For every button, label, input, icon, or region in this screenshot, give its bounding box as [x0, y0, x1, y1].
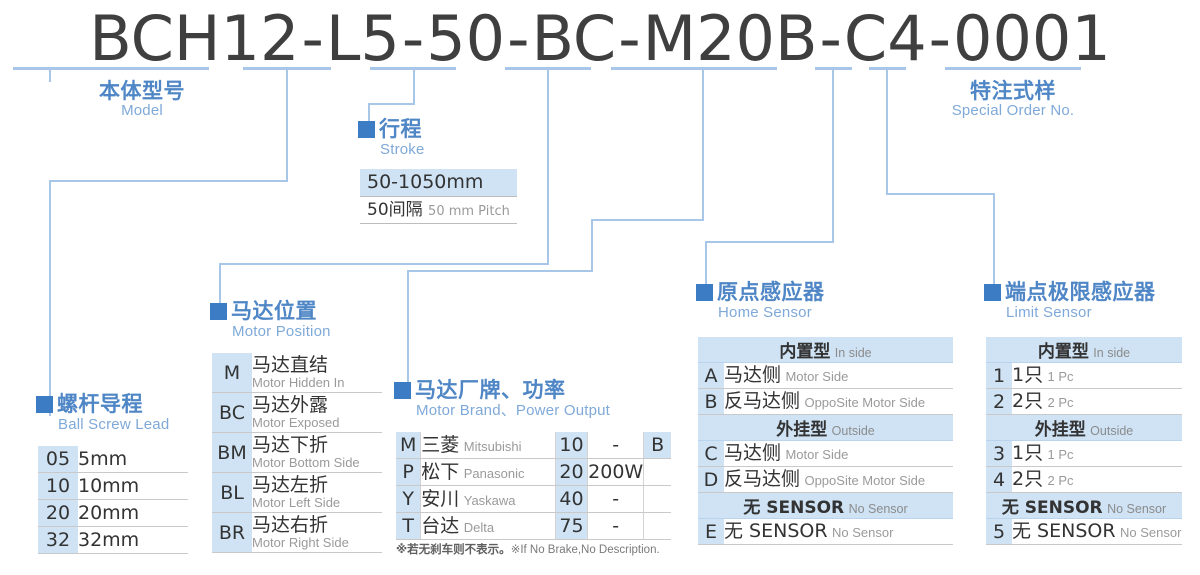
leader-motor-brand-horizontal-b	[407, 270, 593, 272]
home-sensor-code: C	[698, 441, 724, 467]
motor-brand-note-en: ※If No Brake,No Description.	[511, 544, 660, 556]
block-ball-screw-cn: 螺杆导程	[57, 392, 143, 416]
leader-motor-brand-vertical-b	[591, 219, 593, 271]
block-special-order: 特注式样 Special Order No.	[930, 80, 1096, 120]
table-row: 3232mm	[38, 527, 188, 554]
table-row: D反马达侧 OppoSite Motor Side	[698, 467, 953, 493]
motor-brand-note-cn: ※若无刹车则不表示。	[396, 544, 511, 556]
stroke-pitch-en: 50 mm Pitch	[428, 204, 510, 219]
code-segment-home-sensor: C	[844, 2, 887, 75]
motor-position-table: M马达直结Motor Hidden InBC马达外露Motor ExposedB…	[212, 353, 382, 553]
block-model: 本体型号 Model	[57, 80, 227, 120]
code-dash-2: -	[400, 2, 426, 75]
leader-lead-vertical	[286, 70, 288, 180]
table-row: E无 SENSOR No Sensor	[698, 519, 953, 545]
table-row: BM马达下折Motor Bottom Side	[212, 433, 382, 473]
leader-limit-sensor-horizontal	[886, 193, 994, 195]
motor-brand-power-value: -	[588, 486, 644, 513]
table-row: 055mm	[38, 446, 188, 473]
leader-motor-position-vertical-a	[547, 70, 549, 264]
leader-home-sensor-vertical-a	[832, 70, 834, 242]
leader-lead-horizontal	[49, 180, 288, 182]
stroke-pitch-cn: 50间隔	[367, 200, 423, 220]
leader-stroke-horizontal	[368, 103, 415, 105]
leader-home-sensor-horizontal	[705, 241, 834, 243]
home-sensor-value: 马达侧 Motor Side	[724, 363, 953, 389]
limit-sensor-group-label: 无 SENSOR No Sensor	[986, 493, 1182, 519]
table-row: BR马达右折Motor Right Side	[212, 513, 382, 553]
code-segment-motor-brand: M20B	[643, 2, 818, 75]
motor-brand-code: T	[396, 513, 421, 540]
square-bullet-icon	[696, 284, 713, 301]
motor-brand-power-code: 10	[555, 432, 587, 459]
motor-brand-table: M三菱 Mitsubishi10-BP松下 Panasonic20200WY安川…	[396, 432, 671, 540]
leader-limit-sensor-vertical-a	[886, 70, 888, 194]
leader-motor-brand-vertical-a	[702, 70, 704, 220]
code-dash-4: -	[616, 2, 642, 75]
code-segment-limit-sensor: 4	[887, 2, 926, 75]
code-segment-motor-position: BC	[531, 2, 616, 75]
motor-brand-code: Y	[396, 486, 421, 513]
home-sensor-table: 内置型 In sideA马达侧 Motor SideB反马达侧 OppoSite…	[698, 337, 953, 545]
table-row: M马达直结Motor Hidden In	[212, 353, 382, 393]
square-bullet-icon	[394, 382, 411, 399]
limit-sensor-code: 3	[986, 441, 1012, 467]
square-bullet-icon	[210, 303, 227, 320]
leader-motor-position-horizontal	[219, 263, 549, 265]
lead-value: 5mm	[78, 446, 188, 473]
table-row: M三菱 Mitsubishi10-B	[396, 432, 671, 459]
home-sensor-value: 反马达侧 OppoSite Motor Side	[724, 467, 953, 493]
motor-position-code: BR	[212, 513, 252, 553]
motor-position-value: 马达右折Motor Right Side	[252, 513, 382, 553]
block-special-order-cn: 特注式样	[930, 80, 1096, 102]
block-special-order-en: Special Order No.	[930, 102, 1096, 120]
limit-sensor-group-label: 内置型 In side	[986, 337, 1182, 363]
table-row: C马达侧 Motor Side	[698, 441, 953, 467]
home-sensor-code: B	[698, 389, 724, 415]
block-home-sensor-cn: 原点感应器	[717, 280, 825, 304]
table-group-row: 外挂型 Outside	[698, 415, 953, 441]
home-sensor-code: A	[698, 363, 724, 389]
lead-value: 20mm	[78, 500, 188, 527]
code-segment-model: BCH12	[89, 2, 299, 75]
lead-code: 05	[38, 446, 78, 473]
lead-value: 10mm	[78, 473, 188, 500]
motor-position-code: BL	[212, 473, 252, 513]
motor-brand-brake-code	[644, 486, 671, 513]
motor-brand-power-value: -	[588, 432, 644, 459]
block-motor-brand-cn: 马达厂牌、功率	[415, 378, 566, 402]
block-ball-screw-en: Ball Screw Lead	[36, 416, 169, 434]
code-dash-6: -	[927, 2, 953, 75]
leader-motor-brand-horizontal-a	[591, 219, 704, 221]
home-sensor-group-label: 外挂型 Outside	[698, 415, 953, 441]
code-segment-lead: L5	[326, 2, 400, 75]
block-limit-sensor-cn: 端点极限感应器	[1005, 280, 1156, 304]
block-home-sensor: 原点感应器 Home Sensor	[696, 281, 825, 322]
block-motor-position: 马达位置 Motor Position	[210, 300, 331, 341]
code-segment-stroke: 50	[426, 2, 505, 75]
limit-sensor-code: 4	[986, 467, 1012, 493]
block-motor-brand: 马达厂牌、功率 Motor Brand、Power Output	[394, 379, 610, 420]
square-bullet-icon	[36, 396, 53, 413]
motor-brand-note: ※若无刹车则不表示。※If No Brake,No Description.	[396, 541, 686, 557]
table-row: T台达 Delta75-	[396, 513, 671, 540]
motor-brand-code: M	[396, 432, 421, 459]
home-sensor-group-label: 内置型 In side	[698, 337, 953, 363]
square-bullet-icon	[984, 284, 1001, 301]
stroke-pitch: 50间隔 50 mm Pitch	[360, 197, 517, 224]
motor-brand-name: 台达 Delta	[421, 513, 556, 540]
block-stroke: 行程 Stroke	[358, 118, 425, 159]
block-limit-sensor: 端点极限感应器 Limit Sensor	[984, 281, 1156, 322]
leader-ball-screw-vertical	[49, 180, 51, 416]
table-row: 31只 1 Pc	[986, 441, 1182, 467]
square-bullet-icon	[358, 121, 375, 138]
table-row: 42只 2 Pc	[986, 467, 1182, 493]
limit-sensor-code: 2	[986, 389, 1012, 415]
table-row: Y安川 Yaskawa40-	[396, 486, 671, 513]
table-row: 1010mm	[38, 473, 188, 500]
table-group-row: 内置型 In side	[698, 337, 953, 363]
home-sensor-code: D	[698, 467, 724, 493]
block-motor-brand-en: Motor Brand、Power Output	[394, 402, 610, 420]
table-group-row: 无 SENSOR No Sensor	[698, 493, 953, 519]
table-row: BL马达左折Motor Left Side	[212, 473, 382, 513]
motor-position-code: BM	[212, 433, 252, 473]
motor-brand-brake-code	[644, 513, 671, 540]
block-stroke-cn: 行程	[379, 117, 422, 141]
home-sensor-code: E	[698, 519, 724, 545]
lead-code: 32	[38, 527, 78, 554]
leader-model-vertical-top	[49, 70, 51, 82]
underline-special-order	[945, 67, 1081, 70]
home-sensor-value: 反马达侧 OppoSite Motor Side	[724, 389, 953, 415]
stroke-range: 50-1050mm	[360, 169, 517, 197]
table-row: P松下 Panasonic20200W	[396, 459, 671, 486]
diagram-canvas: BCH12-L5-50-BC-M20B-C4-0001 本体型号 Model 行…	[0, 0, 1200, 575]
motor-brand-name: 三菱 Mitsubishi	[421, 432, 556, 459]
code-dash-3: -	[505, 2, 531, 75]
table-row: BC马达外露Motor Exposed	[212, 393, 382, 433]
motor-brand-power-value: 200W	[588, 459, 644, 486]
block-ball-screw-lead: 螺杆导程 Ball Screw Lead	[36, 393, 169, 434]
limit-sensor-code: 1	[986, 363, 1012, 389]
motor-position-code: BC	[212, 393, 252, 433]
table-row: A马达侧 Motor Side	[698, 363, 953, 389]
table-group-row: 外挂型 Outside	[986, 415, 1182, 441]
part-number: BCH12-L5-50-BC-M20B-C4-0001	[0, 2, 1200, 75]
motor-position-code: M	[212, 353, 252, 393]
block-motor-position-en: Motor Position	[210, 323, 331, 341]
motor-brand-name: 安川 Yaskawa	[421, 486, 556, 513]
motor-brand-power-code: 20	[555, 459, 587, 486]
home-sensor-value: 马达侧 Motor Side	[724, 441, 953, 467]
motor-brand-power-value: -	[588, 513, 644, 540]
limit-sensor-value: 2只 2 Pc	[1012, 389, 1182, 415]
stroke-table: 50-1050mm 50间隔 50 mm Pitch	[360, 169, 517, 224]
motor-position-value: 马达左折Motor Left Side	[252, 473, 382, 513]
code-segment-special-order: 0001	[953, 2, 1111, 75]
table-row: 22只 2 Pc	[986, 389, 1182, 415]
motor-brand-name: 松下 Panasonic	[421, 459, 556, 486]
underline-model	[13, 67, 209, 70]
limit-sensor-code: 5	[986, 519, 1012, 545]
limit-sensor-value: 无 SENSOR No Sensor	[1012, 519, 1182, 545]
block-motor-position-cn: 马达位置	[231, 299, 317, 323]
table-row: 5无 SENSOR No Sensor	[986, 519, 1182, 545]
home-sensor-value: 无 SENSOR No Sensor	[724, 519, 953, 545]
table-row: 11只 1 Pc	[986, 363, 1182, 389]
table-group-row: 无 SENSOR No Sensor	[986, 493, 1182, 519]
motor-position-value: 马达外露Motor Exposed	[252, 393, 382, 433]
limit-sensor-value: 2只 2 Pc	[1012, 467, 1182, 493]
motor-brand-code: P	[396, 459, 421, 486]
motor-brand-power-code: 75	[555, 513, 587, 540]
code-dash-1: -	[299, 2, 325, 75]
table-row: 2020mm	[38, 500, 188, 527]
motor-position-value: 马达直结Motor Hidden In	[252, 353, 382, 393]
leader-stroke-vertical-a	[413, 70, 415, 104]
motor-position-value: 马达下折Motor Bottom Side	[252, 433, 382, 473]
limit-sensor-group-label: 外挂型 Outside	[986, 415, 1182, 441]
table-group-row: 内置型 In side	[986, 337, 1182, 363]
block-stroke-en: Stroke	[358, 141, 425, 159]
lead-code: 10	[38, 473, 78, 500]
lead-value: 32mm	[78, 527, 188, 554]
motor-brand-brake-code	[644, 459, 671, 486]
leader-motor-brand-vertical-c	[407, 270, 409, 384]
leader-limit-sensor-vertical-b	[993, 193, 995, 288]
block-model-en: Model	[57, 102, 227, 120]
code-dash-5: -	[818, 2, 844, 75]
block-limit-sensor-en: Limit Sensor	[984, 304, 1156, 322]
ball-screw-lead-table: 055mm1010mm2020mm3232mm	[38, 446, 188, 554]
motor-brand-power-code: 40	[555, 486, 587, 513]
limit-sensor-value: 1只 1 Pc	[1012, 441, 1182, 467]
limit-sensor-value: 1只 1 Pc	[1012, 363, 1182, 389]
limit-sensor-table: 内置型 In side11只 1 Pc22只 2 Pc外挂型 Outside31…	[986, 337, 1182, 545]
lead-code: 20	[38, 500, 78, 527]
table-row: B反马达侧 OppoSite Motor Side	[698, 389, 953, 415]
block-model-cn: 本体型号	[57, 80, 227, 102]
home-sensor-group-label: 无 SENSOR No Sensor	[698, 493, 953, 519]
block-home-sensor-en: Home Sensor	[696, 304, 825, 322]
motor-brand-brake-code: B	[644, 432, 671, 459]
underline-motor-brand	[611, 67, 777, 70]
